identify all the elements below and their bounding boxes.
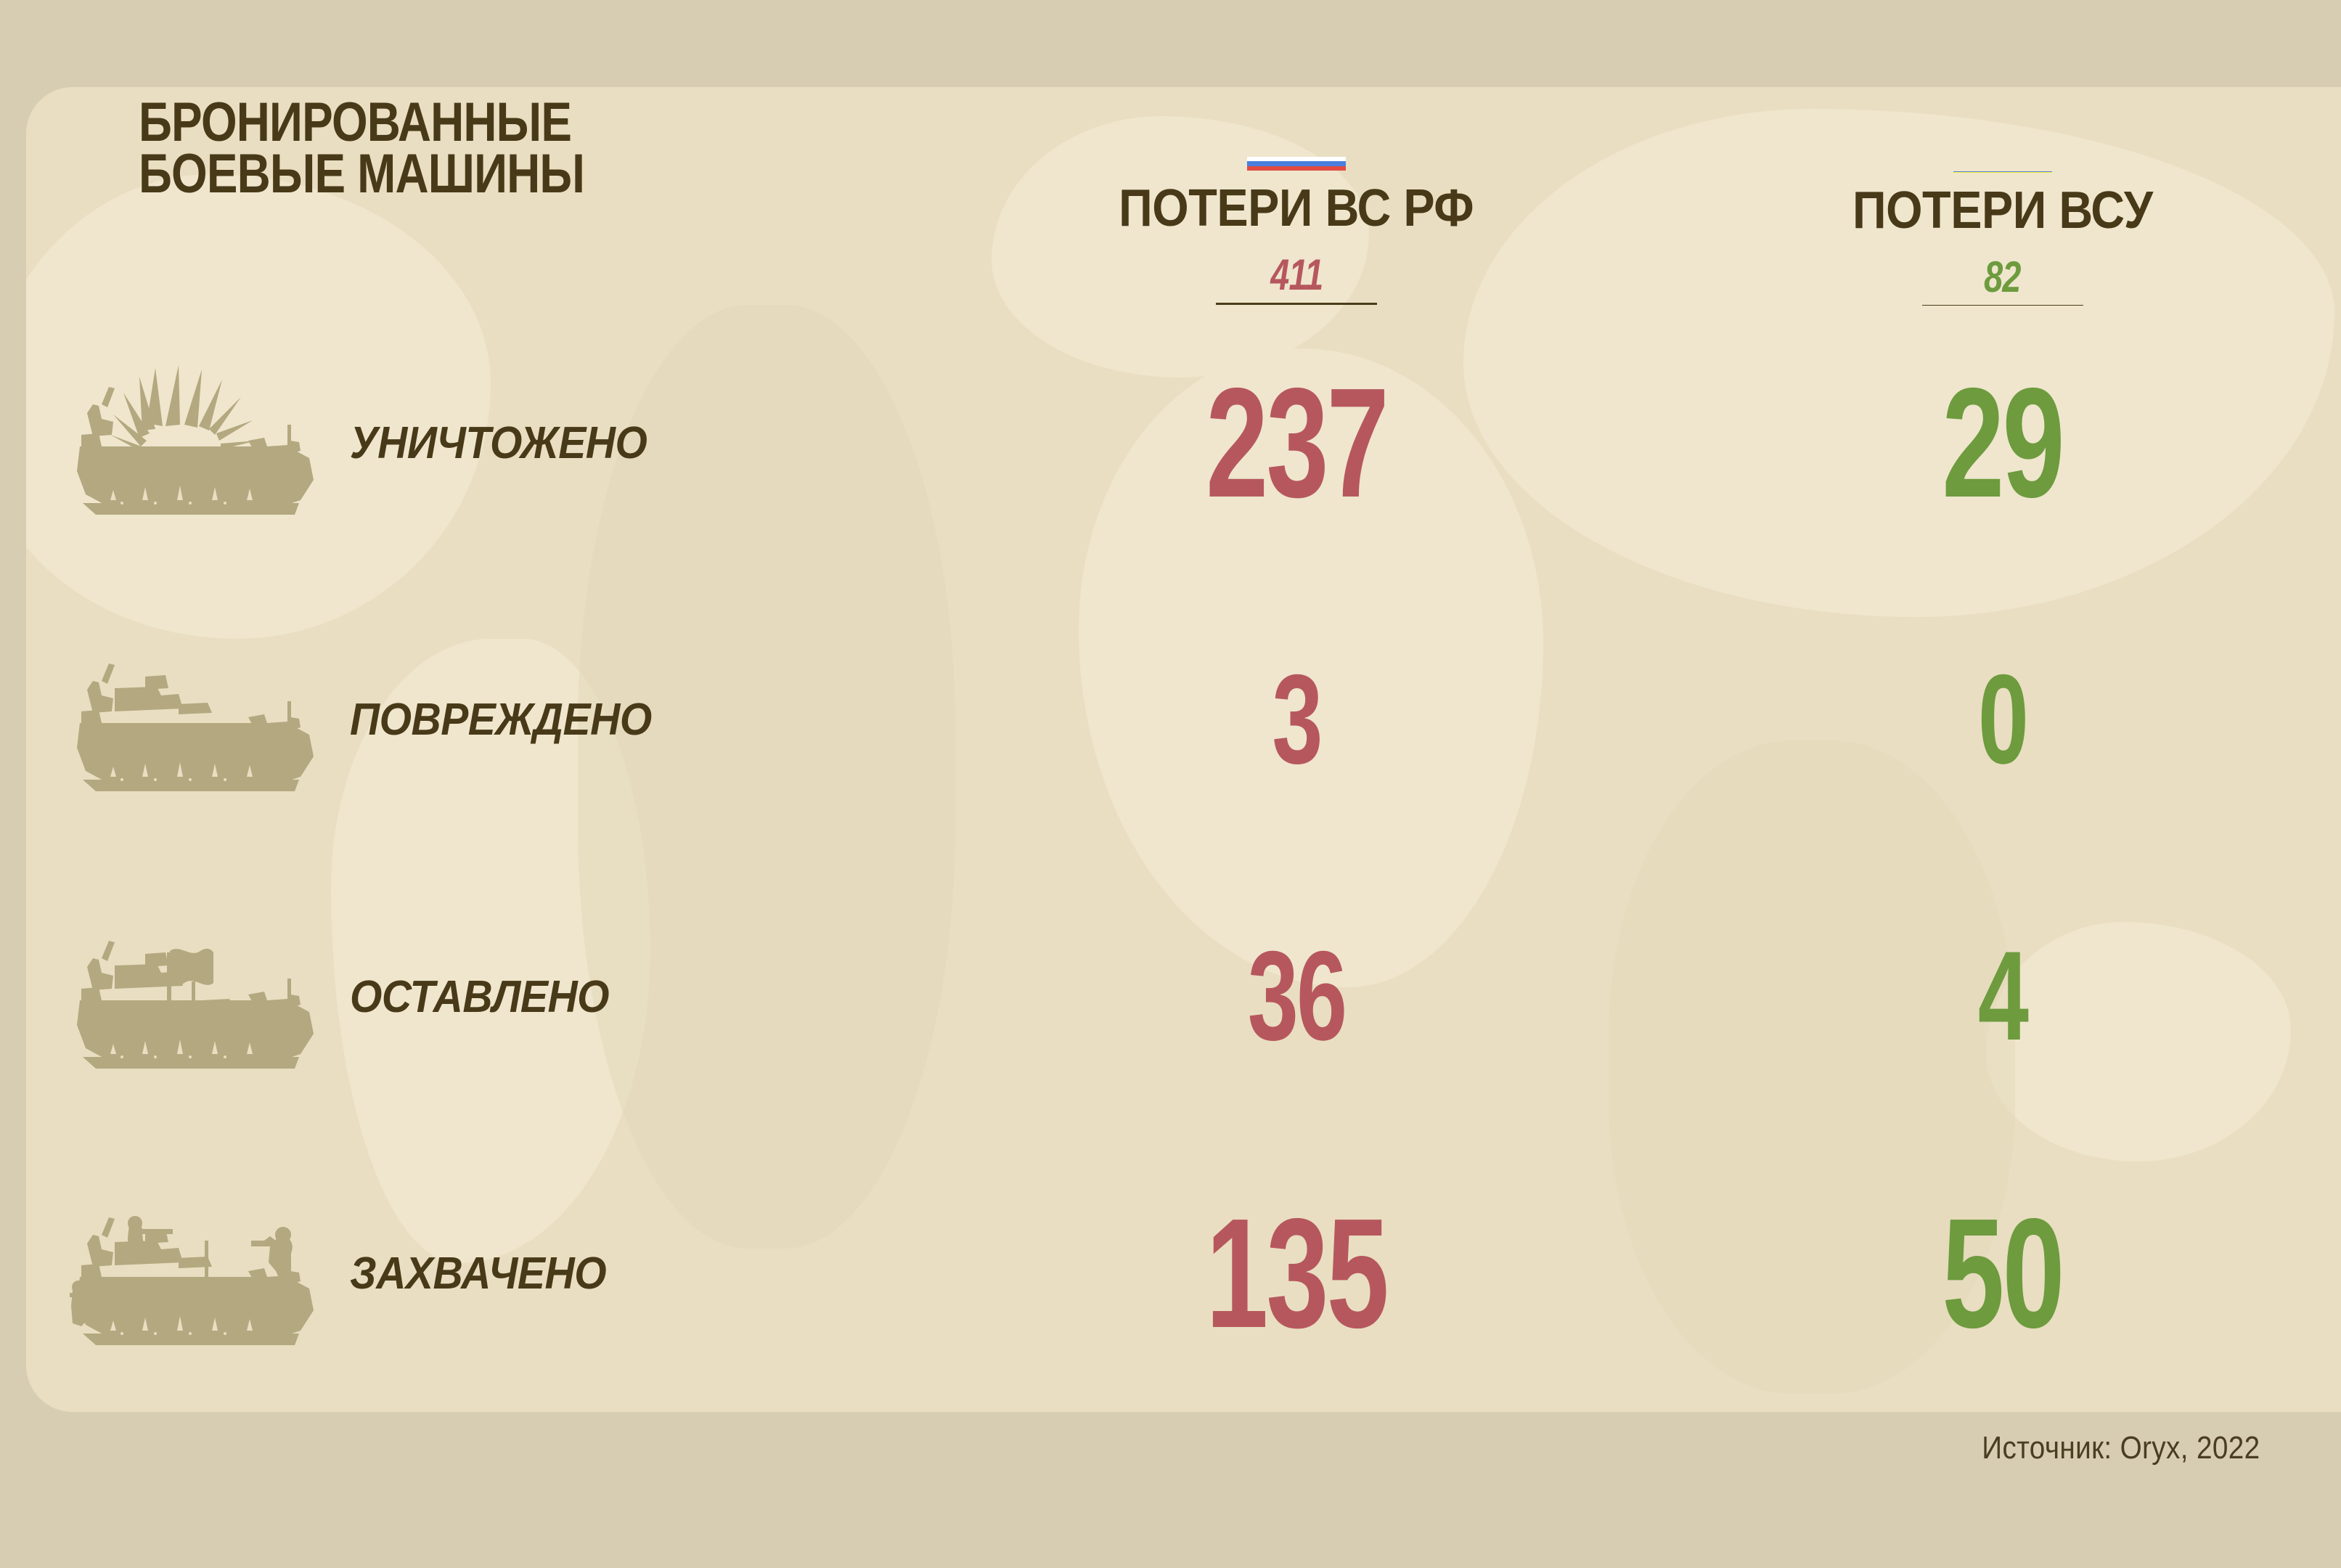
armored-vehicle-abandoned-icon [70, 919, 331, 1075]
ukraine-flag-icon [1953, 171, 2052, 173]
armored-vehicle-captured-icon [70, 1196, 331, 1352]
column-header-russia: ПОТЕРИ ВС РФ 411 [955, 87, 1638, 305]
value-ukraine: 4 [1740, 859, 2266, 1135]
armored-vehicle-damaged-icon [70, 642, 331, 798]
infographic-root: БРОНИРОВАННЫЕ БОЕВЫЕ МАШИНЫ ПОТЕРИ ВС РФ… [0, 0, 2341, 1568]
content-card: БРОНИРОВАННЫЕ БОЕВЫЕ МАШИНЫ ПОТЕРИ ВС РФ… [26, 87, 2341, 1412]
column-header-russia-label: ПОТЕРИ ВС РФ [1119, 182, 1474, 234]
russia-flag-icon [1247, 157, 1346, 171]
source-caption: Источник: Oryx, 2022 [1982, 1430, 2260, 1466]
column-header-ukraine-label: ПОТЕРИ ВСУ [1852, 184, 2153, 237]
value-ukraine: 0 [1740, 581, 2266, 858]
row-label: УНИЧТОЖЕНО [350, 417, 647, 469]
row-label: ОСТАВЛЕНО [350, 971, 609, 1023]
armored-vehicle-destroyed-icon [70, 365, 331, 521]
page-title-text: БРОНИРОВАННЫЕ БОЕВЫЕ МАШИНЫ [139, 97, 584, 200]
value-russia: 36 [1051, 859, 1543, 1135]
page-title: БРОНИРОВАННЫЕ БОЕВЫЕ МАШИНЫ [26, 87, 955, 305]
column-total-russia: 411 [1270, 253, 1323, 297]
table-row: ЗАХВАЧЕНО [26, 1135, 955, 1412]
row-label: ЗАХВАЧЕНО [350, 1248, 606, 1299]
value-ukraine: 50 [1740, 1135, 2266, 1412]
column-total-ukraine: 82 [1984, 256, 2021, 299]
row-label: ПОВРЕЖДЕНО [350, 694, 652, 746]
table-row: ОСТАВЛЕНО [26, 859, 955, 1135]
table-row: ПОВРЕЖДЕНО [26, 581, 955, 858]
value-russia: 135 [1051, 1135, 1543, 1412]
column-header-ukraine: ПОТЕРИ ВСУ 82 [1638, 87, 2341, 305]
value-russia: 237 [1051, 305, 1543, 581]
stats-grid: БРОНИРОВАННЫЕ БОЕВЫЕ МАШИНЫ ПОТЕРИ ВС РФ… [26, 87, 2341, 1412]
value-ukraine: 29 [1740, 305, 2266, 581]
value-russia: 3 [1051, 581, 1543, 858]
table-row: УНИЧТОЖЕНО [26, 305, 955, 581]
